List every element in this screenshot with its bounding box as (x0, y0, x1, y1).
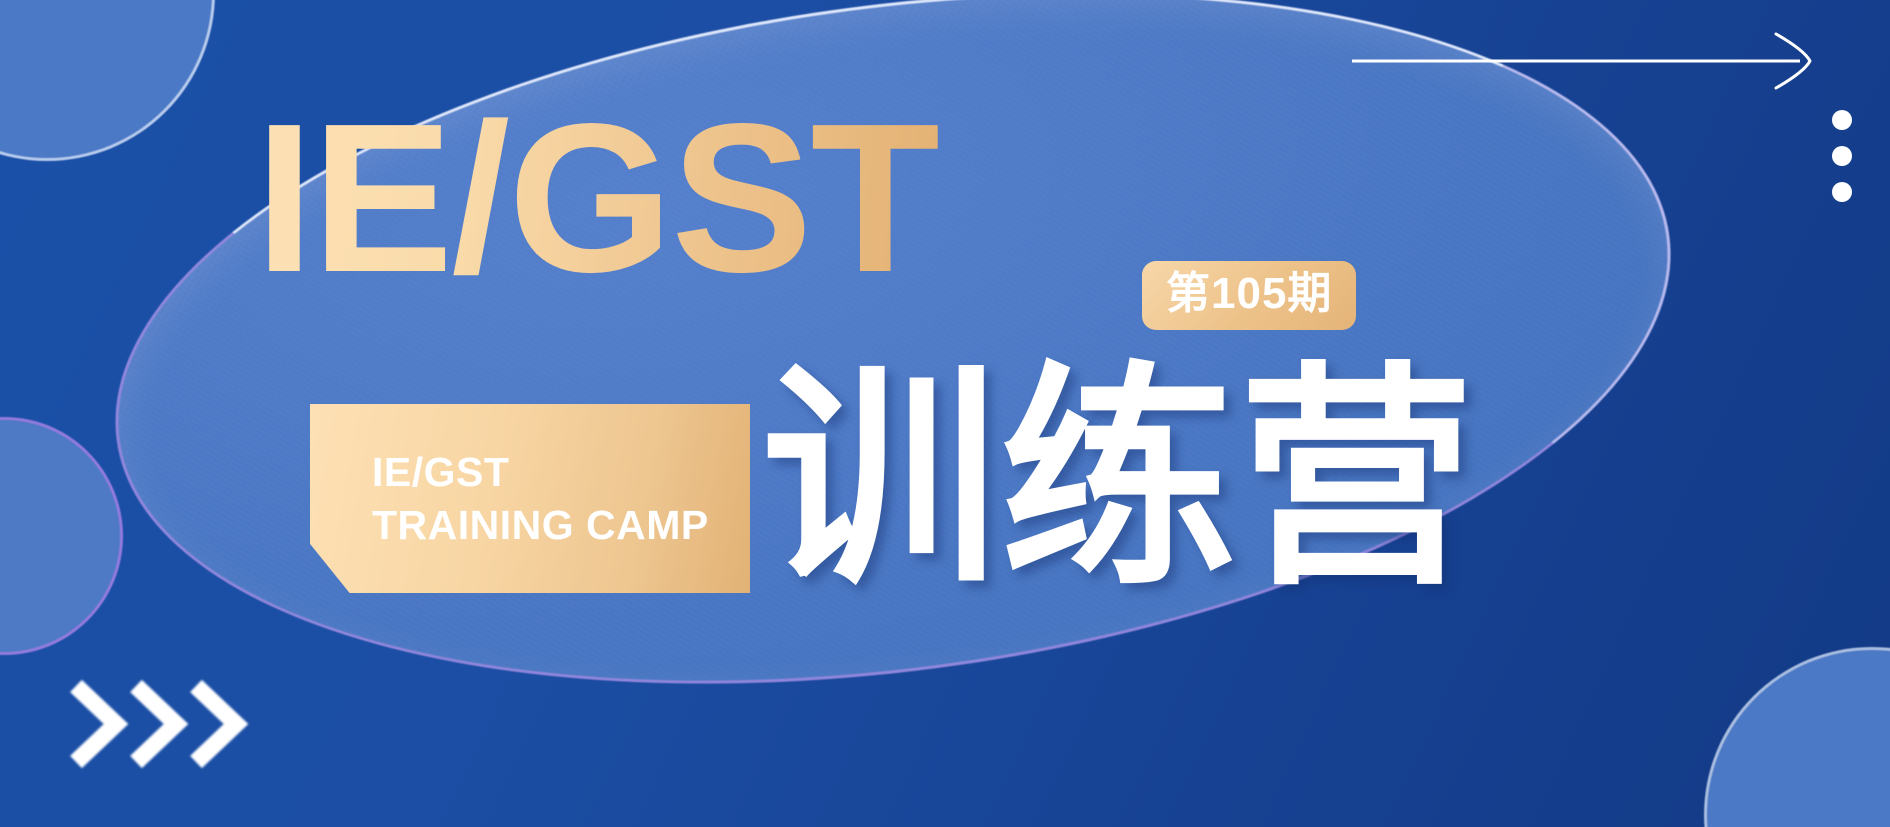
chevron-right-group-icon (70, 676, 270, 772)
training-camp-plate-line-1: IE/GST (372, 446, 750, 498)
dot-icon (1832, 110, 1852, 130)
training-camp-plate-line-2: TRAINING CAMP (372, 499, 750, 551)
dot-icon (1832, 146, 1852, 166)
dot-stack (1832, 110, 1852, 202)
headline-wordmark: IE/GST (255, 92, 938, 304)
arrow-right-line-icon (1352, 30, 1822, 90)
promo-banner: IE/GST 第105期 IE/GST TRAINING CAMP 训练营 (0, 0, 1890, 827)
dot-icon (1832, 182, 1852, 202)
edition-badge: 第105期 (1142, 261, 1356, 330)
banner-content: IE/GST 第105期 IE/GST TRAINING CAMP 训练营 (0, 0, 1890, 827)
training-camp-plate: IE/GST TRAINING CAMP (310, 404, 750, 593)
headline-chinese: 训练营 (762, 362, 1476, 598)
